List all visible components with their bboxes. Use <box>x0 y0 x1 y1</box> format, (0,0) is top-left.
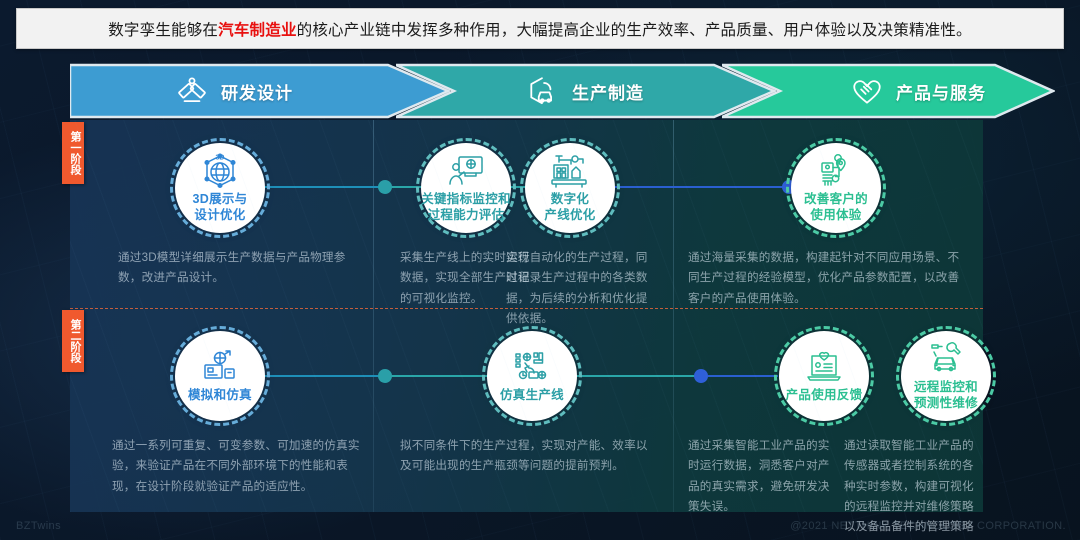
node-disc: 改善客户的 使用体验 <box>791 143 881 233</box>
laptop-heart-icon <box>801 347 847 387</box>
content-panel: 第一阶段 第二阶段 3D <box>70 120 983 512</box>
stage-badge-1: 第一阶段 <box>62 122 84 184</box>
drafting-compass-icon <box>175 74 209 108</box>
footer-brand: BZTwins <box>16 520 61 532</box>
footer-copyright: @2021 NETTHINK TECHNOLOGY CORPORATION. <box>790 520 1066 532</box>
node-description: 拟不同条件下的生产过程，实现对产能、效率以及可能出现的生产瓶颈等问题的提前预判。 <box>400 436 658 477</box>
customer-journey-icon <box>813 151 859 191</box>
car-manufacturing-icon <box>526 74 560 108</box>
connector-node-3 <box>557 180 571 194</box>
globe-3d-icon: 3D <box>197 151 243 191</box>
headline-text: 数字孪生能够在汽车制造业的核心产业链中发挥多种作用，大幅提高企业的生产效率、产品… <box>108 18 972 40</box>
node-title: 远程监控和 预测性维修 <box>914 380 978 411</box>
node-description: 通过一系列可重复、可变参数、可加速的仿真实验，来验证产品在不同外部环境下的性能和… <box>112 436 370 497</box>
node-description: 实现自动化的生产过程，同时记录生产过程中的各类数据，为后续的分析和优化提供依据。 <box>506 248 656 329</box>
node-disc: 数字化 产线优化 <box>525 143 615 233</box>
svg-text:3D: 3D <box>216 155 225 162</box>
connector-node-6 <box>378 369 392 383</box>
node-virtual-line[interactable]: 仿真生产线 <box>482 326 582 426</box>
node-title: 改善客户的 使用体验 <box>804 192 868 223</box>
node-customer-experience[interactable]: 改善客户的 使用体验 <box>786 138 886 238</box>
stage-divider <box>70 308 983 309</box>
robot-arm-icon <box>509 347 555 387</box>
node-product-feedback[interactable]: 产品使用反馈 <box>774 326 874 426</box>
node-disc: 3D 3D展示与 设计优化 <box>175 143 265 233</box>
connector-5-6 <box>225 375 400 377</box>
connector-3-4 <box>565 186 790 188</box>
car-wrench-icon <box>923 339 969 379</box>
node-simulation[interactable]: 模拟和仿真 <box>170 326 270 426</box>
connector-6-7 <box>385 375 705 377</box>
node-description: 通过海量采集的数据，构建起针对不同应用场景、不同生产过程的经验模型，优化产品参数… <box>688 248 970 309</box>
connector-7-8 <box>698 375 778 377</box>
node-remote-maintenance[interactable]: 远程监控和 预测性维修 <box>896 326 996 426</box>
node-disc: 仿真生产线 <box>487 331 577 421</box>
arrow-rd-design[interactable]: 研发设计 <box>70 62 450 120</box>
headline-prefix: 数字孪生能够在 <box>108 22 218 39</box>
node-ring <box>170 326 270 426</box>
node-disc: 远程监控和 预测性维修 <box>901 331 991 421</box>
headline-banner: 数字孪生能够在汽车制造业的核心产业链中发挥多种作用，大幅提高企业的生产效率、产品… <box>16 8 1064 49</box>
node-ring <box>416 138 516 238</box>
column-divider-2 <box>673 120 674 512</box>
connector-node-7 <box>694 369 708 383</box>
headline-suffix: 的核心产业链中发挥多种作用，大幅提高企业的生产效率、产品质量、用户体验以及决策精… <box>297 22 972 39</box>
phase-arrow-ribbon: 研发设计 生产制造 <box>70 62 1055 120</box>
node-ring <box>786 138 886 238</box>
headline-highlight: 汽车制造业 <box>218 22 297 39</box>
node-kpi-monitor[interactable]: 关键指标监控和 过程能力评估 <box>416 138 516 238</box>
node-disc: 关键指标监控和 过程能力评估 <box>421 143 511 233</box>
connector-node-4 <box>782 180 796 194</box>
simulation-desk-icon <box>197 347 243 387</box>
node-disc: 模拟和仿真 <box>175 331 265 421</box>
node-description: 通过3D模型详细展示生产数据与产品物理参数，改进产品设计。 <box>118 248 368 289</box>
node-title: 数字化 产线优化 <box>544 192 595 223</box>
node-ring <box>896 326 996 426</box>
connector-2-3 <box>385 186 570 188</box>
connector-node-5 <box>218 369 232 383</box>
node-description: 采集生产线上的实时运行数据，实现全部生产过程的可视化监控。 <box>400 248 540 309</box>
node-title: 3D展示与 设计优化 <box>193 192 248 223</box>
monitor-analyst-icon <box>443 151 489 191</box>
node-ring <box>170 138 270 238</box>
arrow-label: 研发设计 <box>221 79 293 104</box>
connector-1-2 <box>225 186 400 188</box>
arrow-manufacturing[interactable]: 生产制造 <box>396 62 776 120</box>
node-ring <box>520 138 620 238</box>
factory-line-icon <box>547 151 593 191</box>
node-title: 模拟和仿真 <box>188 388 252 403</box>
handshake-heart-icon <box>850 74 884 108</box>
node-title: 关键指标监控和 过程能力评估 <box>421 192 511 223</box>
arrow-label: 产品与服务 <box>896 79 986 104</box>
stage-badge-2: 第二阶段 <box>62 310 84 372</box>
node-title: 仿真生产线 <box>500 388 564 403</box>
node-disc: 产品使用反馈 <box>779 331 869 421</box>
arrow-label: 生产制造 <box>572 79 644 104</box>
column-divider-1 <box>373 120 374 512</box>
node-ring <box>482 326 582 426</box>
node-title: 产品使用反馈 <box>786 388 863 403</box>
connector-node-2 <box>378 180 392 194</box>
node-description: 通过采集智能工业产品的实时运行数据，洞悉客户对产品的真实需求，避免研发决策失误。 <box>688 436 836 517</box>
node-digital-line[interactable]: 数字化 产线优化 <box>520 138 620 238</box>
connector-node-1 <box>218 180 232 194</box>
node-3d-display[interactable]: 3D 3D展示与 设计优化 <box>170 138 270 238</box>
node-ring <box>774 326 874 426</box>
arrow-product-service[interactable]: 产品与服务 <box>722 62 1055 120</box>
